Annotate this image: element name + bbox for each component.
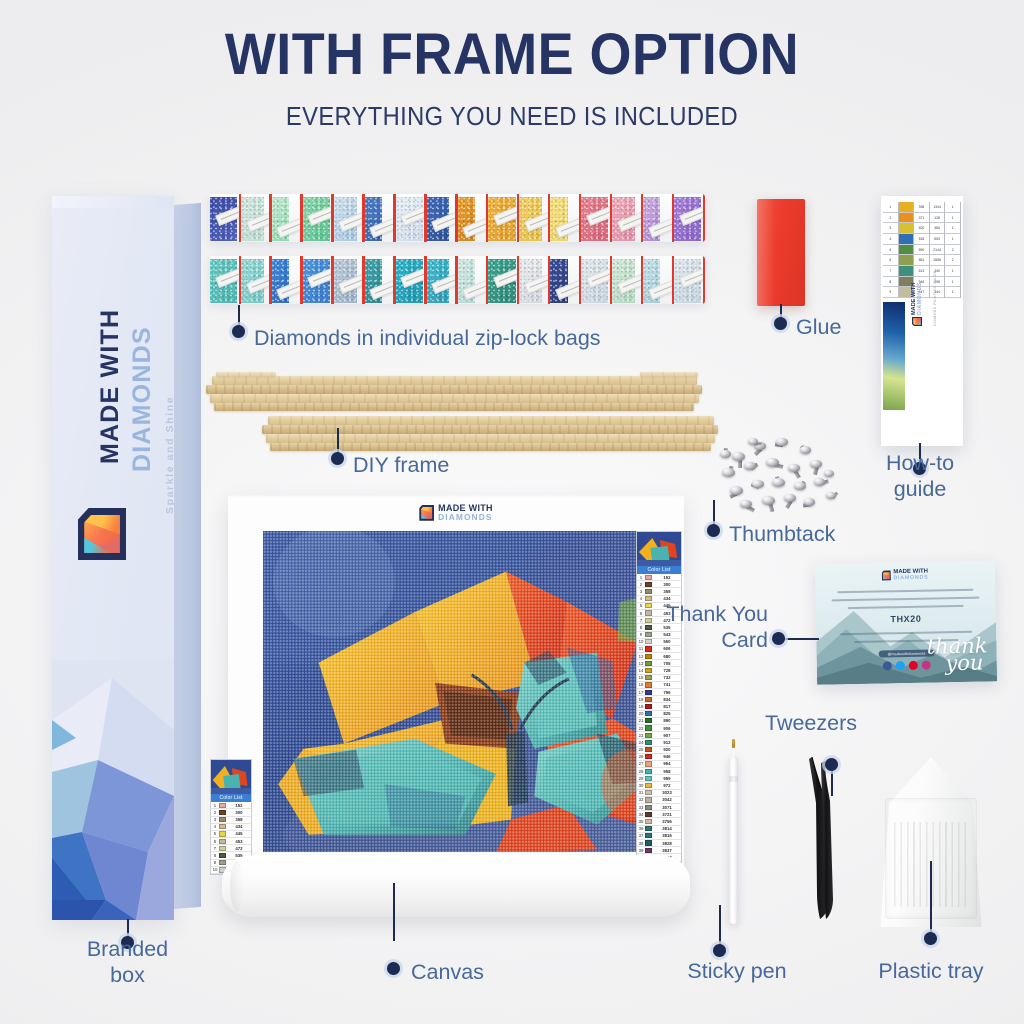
guide-table-cell: 344 <box>930 287 945 298</box>
guide-table-cell: 9 <box>883 287 898 298</box>
diamond-gem-icon <box>912 317 922 326</box>
color-list-row: 6453 <box>211 838 251 845</box>
callout-diy-frame: DIY frame <box>353 452 449 478</box>
diamond-bag <box>272 256 303 304</box>
sticky-pen <box>727 738 740 924</box>
card-script-text: thank you <box>927 637 988 673</box>
callout-plastic-tray: Plastic tray <box>861 958 1001 984</box>
thumbtack-pile <box>714 434 842 516</box>
guide-table-cell: 1858 <box>930 255 945 266</box>
color-list-row: 29959 <box>637 775 681 782</box>
color-list-row: 363814 <box>637 826 681 833</box>
leader-sticky-pen <box>719 905 721 947</box>
guide-table-cell: 581 <box>914 255 929 266</box>
box-brand-line2: DIAMONDS <box>128 326 157 472</box>
how-to-guide: 1234567899383714005185905816139466471344… <box>881 196 963 446</box>
guide-table-cell: 484 <box>930 223 945 234</box>
callout-tweezers: Tweezers <box>765 710 857 736</box>
canvas-sheet: MADE WITH DIAMONDS <box>228 497 684 869</box>
callout-canvas: Canvas <box>411 959 484 985</box>
card-social-icons <box>883 661 931 671</box>
artwork-thumbnail-icon <box>211 760 251 794</box>
canvas-brand-line2: DIAMONDS <box>438 513 493 521</box>
callout-thank-you: Thank You Card <box>628 601 768 653</box>
color-list-row: 14728 <box>637 667 681 674</box>
guide-table-cell: 1 <box>945 287 960 298</box>
diamond-bag <box>581 194 612 242</box>
diamond-bag <box>488 194 519 242</box>
thumbtack-icon <box>824 470 834 480</box>
guide-table-cell <box>899 213 914 224</box>
color-list-row: 16741 <box>637 682 681 689</box>
thank-you-card: MADE WITH DIAMONDS THX20 @madewithdiamon… <box>815 560 997 684</box>
dot-sticky-pen <box>713 944 726 957</box>
color-list-row: 28958 <box>637 768 681 775</box>
artwork-thumbnail-icon <box>637 532 681 566</box>
diamond-bag <box>303 256 334 304</box>
thumbtack-icon <box>804 498 815 509</box>
diamond-bag-row-bottom <box>210 256 705 304</box>
diamond-bag <box>458 256 489 304</box>
color-list-row: 5445 <box>211 831 251 838</box>
box-front-panel: MADE WITH DIAMONDS Sparkle and Shine <box>52 196 174 920</box>
guide-table-cell: 1 <box>945 266 960 277</box>
color-list-right: Color List 11522300335844345445645374728… <box>636 531 682 863</box>
color-list-row: 2300 <box>637 581 681 588</box>
color-list-row: 2300 <box>211 809 251 816</box>
diamond-bag <box>241 194 272 242</box>
color-list-row: 30972 <box>637 782 681 789</box>
guide-table-cell: 938 <box>914 202 929 213</box>
thumbtack-icon <box>730 486 743 499</box>
guide-subtitle: DIAMOND PAINTING GUIDE <box>933 270 937 326</box>
canvas-artwork <box>263 531 668 852</box>
guide-table-cell <box>899 202 914 213</box>
color-list-row: 1152 <box>211 802 251 809</box>
diamond-bag <box>674 194 705 242</box>
guide-table-cell: 128 <box>930 213 945 224</box>
guide-table-cell <box>899 255 914 266</box>
guide-table-cell <box>899 234 914 245</box>
dot-thank-you <box>772 632 785 645</box>
diamond-bag <box>612 194 643 242</box>
guide-table-cell: 371 <box>914 213 929 224</box>
canvas-brand-logo: MADE WITH DIAMONDS <box>419 504 493 521</box>
color-list-header: Color List <box>211 794 251 802</box>
dot-plastic-tray <box>924 932 937 945</box>
color-list-row: 343721 <box>637 811 681 818</box>
color-list-row: 323042 <box>637 797 681 804</box>
card-script-line2: you <box>941 654 988 672</box>
thumbtack-icon <box>810 460 822 472</box>
color-list-row: 333071 <box>637 804 681 811</box>
diamond-bag <box>612 256 643 304</box>
guide-table-cell: 2 <box>945 255 960 266</box>
thumbtack-icon <box>748 438 758 448</box>
infographic-canvas: WITH FRAME OPTION EVERYTHING YOU NEED IS… <box>0 0 1024 1024</box>
leader-plastic-tray <box>930 861 932 935</box>
thumbtack-icon <box>772 478 785 491</box>
twitter-icon <box>896 661 905 670</box>
thumbtack-icon <box>776 438 788 450</box>
color-list-row: 18834 <box>637 696 681 703</box>
guide-table-cell: 1 <box>945 223 960 234</box>
guide-table-cell: 590 <box>914 245 929 256</box>
diamond-bag <box>272 194 303 242</box>
thumbtack-icon <box>826 492 836 502</box>
diamond-bag <box>458 194 489 242</box>
thumbtack-icon <box>784 494 796 506</box>
color-list-row: 393837 <box>637 847 681 854</box>
callout-thumbtack: Thumbtack <box>729 521 835 547</box>
diamond-bag <box>427 256 458 304</box>
guide-table-column: 123456789 <box>883 202 899 298</box>
guide-table-cell: 1 <box>945 234 960 245</box>
dot-diy-frame <box>331 452 344 465</box>
callout-sticky-pen: Sticky pen <box>672 958 802 984</box>
diamond-bag <box>241 256 272 304</box>
guide-table-cell: 1 <box>883 202 898 213</box>
card-brand-line2: DIAMONDS <box>893 575 928 582</box>
color-list-row: 3358 <box>211 817 251 824</box>
color-list-row: 20825 <box>637 711 681 718</box>
diamond-bag <box>519 194 550 242</box>
leader-canvas <box>393 883 395 941</box>
guide-table-cell: 1 <box>945 277 960 288</box>
thumbtack-icon <box>720 450 731 461</box>
guide-table-cell: 4 <box>883 234 898 245</box>
color-list-header: Color List <box>637 566 681 574</box>
diamond-bag <box>334 256 365 304</box>
box-brand-line1: MADE WITH <box>96 309 125 464</box>
card-handle-label: @madewithdiamonds <box>888 651 926 656</box>
callout-diamond-bags: Diamonds in individual zip-lock bags <box>254 325 601 351</box>
guide-table-cell: 2 <box>945 245 960 256</box>
color-list-row: 3358 <box>637 588 681 595</box>
canvas-roll <box>222 855 690 917</box>
dot-tweezers <box>825 758 838 771</box>
color-list-row: 373816 <box>637 833 681 840</box>
facebook-icon <box>883 661 892 670</box>
guide-table-cell <box>899 245 914 256</box>
guide-table-cell: 2144 <box>930 245 945 256</box>
guide-table-cell: 1 <box>945 213 960 224</box>
guide-table-cell: 653 <box>930 234 945 245</box>
color-list-row: 353756 <box>637 818 681 825</box>
guide-table-cell: 518 <box>914 234 929 245</box>
box-tagline: Sparkle and Shine <box>164 396 174 514</box>
guide-table-cell: 1 <box>945 202 960 213</box>
callout-branded-box: Branded box <box>60 936 195 988</box>
diamond-bag <box>334 194 365 242</box>
diamond-bag <box>396 256 427 304</box>
guide-table-cell: 5 <box>883 245 898 256</box>
pinterest-icon <box>909 661 918 670</box>
guide-brand-line2: DIAMONDS <box>917 282 923 315</box>
dot-glue <box>774 317 787 330</box>
thumbtack-icon <box>740 500 752 512</box>
tweezers <box>805 751 847 923</box>
leader-tweezers <box>831 768 833 796</box>
color-list-row: 15732 <box>637 675 681 682</box>
page-title: WITH FRAME OPTION <box>36 26 988 84</box>
pen-gold-tip <box>732 739 735 748</box>
color-list-row: 17796 <box>637 689 681 696</box>
diamond-bag <box>365 194 396 242</box>
guide-table-cell: 7 <box>883 266 898 277</box>
thumbtack-icon <box>722 468 735 481</box>
thumbtack-icon <box>752 480 764 492</box>
glue-stick <box>757 199 805 306</box>
thumbtack-icon <box>744 462 756 474</box>
color-list-row: 13705 <box>637 660 681 667</box>
color-list-row: 313023 <box>637 790 681 797</box>
card-brand-logo: MADE WITH DIAMONDS <box>882 569 929 582</box>
guide-table-cell <box>899 223 914 234</box>
diamond-bag <box>674 256 705 304</box>
color-list-row: 22906 <box>637 725 681 732</box>
guide-brand-logo: MADE WITH DIAMONDS <box>911 282 923 326</box>
thumbtack-icon <box>762 496 775 509</box>
thumbtack-icon <box>788 464 800 476</box>
diamond-bag <box>210 194 241 242</box>
thumbtack-icon <box>766 458 779 471</box>
color-list-row: 26946 <box>637 754 681 761</box>
diamond-gem-icon <box>882 571 891 581</box>
diamond-bag <box>365 256 396 304</box>
thumbtack-icon <box>800 446 811 457</box>
leader-thank-you <box>781 638 819 640</box>
guide-table-cell: 400 <box>914 223 929 234</box>
box-top-edge <box>52 196 174 208</box>
color-list-row: 1152 <box>637 574 681 581</box>
diamond-bag <box>303 194 334 242</box>
branded-box: MADE WITH DIAMONDS Sparkle and Shine <box>52 196 204 920</box>
guide-table-cell: 8 <box>883 277 898 288</box>
color-list-row: 383828 <box>637 840 681 847</box>
diamond-bag <box>550 194 581 242</box>
guide-table-cell: 340 <box>930 266 945 277</box>
dot-canvas <box>387 962 400 975</box>
diamond-bag <box>488 256 519 304</box>
diamond-gem-icon <box>419 505 434 521</box>
dot-diamond-bags <box>232 325 245 338</box>
diamond-bag <box>519 256 550 304</box>
diamond-bag <box>396 194 427 242</box>
diamond-bag <box>550 256 581 304</box>
box-side-panel <box>174 203 201 909</box>
guide-table-cell: 298 <box>930 277 945 288</box>
diamond-gem-icon <box>78 508 126 560</box>
diamond-bag <box>210 256 241 304</box>
diamond-bag <box>643 256 674 304</box>
header: WITH FRAME OPTION EVERYTHING YOU NEED IS… <box>0 26 1024 132</box>
color-list-row: 27954 <box>637 761 681 768</box>
callout-glue: Glue <box>796 314 841 340</box>
guide-table-cell: 1344 <box>930 202 945 213</box>
color-list-row: 23907 <box>637 732 681 739</box>
color-list-row: 4434 <box>211 824 251 831</box>
callout-how-to-guide: How-to guide <box>855 450 985 502</box>
guide-table-column: 111122111 <box>945 202 961 298</box>
guide-cover-photo <box>883 302 905 410</box>
guide-table-cell: 6 <box>883 255 898 266</box>
guide-table-cell <box>899 266 914 277</box>
guide-table-cell: 3 <box>883 223 898 234</box>
color-list-row: 19817 <box>637 703 681 710</box>
diamond-bag <box>643 194 674 242</box>
color-list-row: 21890 <box>637 718 681 725</box>
dot-thumbtack <box>707 524 720 537</box>
diamond-bag <box>581 256 612 304</box>
guide-table-cell: 613 <box>914 266 929 277</box>
diamond-bag-row-top <box>210 194 705 242</box>
thumbtack-icon <box>794 482 806 494</box>
diamond-bag <box>427 194 458 242</box>
color-list-row: 7472 <box>211 845 251 852</box>
color-list-row: 24912 <box>637 739 681 746</box>
color-list-row: 12680 <box>637 653 681 660</box>
page-subtitle: EVERYTHING YOU NEED IS INCLUDED <box>36 103 988 132</box>
box-polygon-pattern <box>52 600 174 920</box>
guide-table-cell: 2 <box>883 213 898 224</box>
color-list-row: 25920 <box>637 747 681 754</box>
card-promo-code: THX20 <box>890 614 921 625</box>
